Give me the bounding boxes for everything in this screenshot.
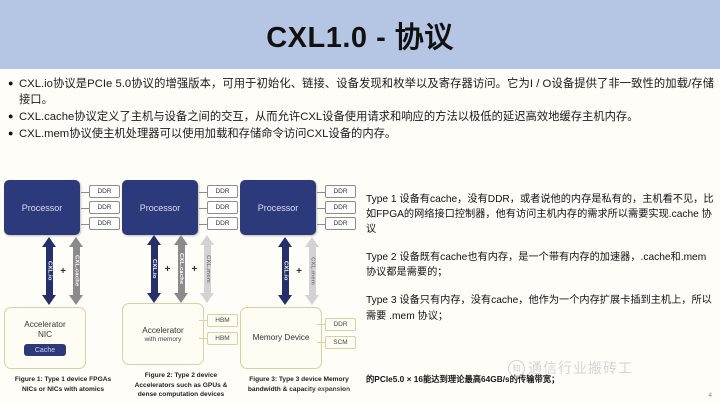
protocol-arrow-cxl-io-icon: CXL.io — [42, 237, 57, 305]
bullet-marker-icon: ● — [8, 109, 19, 123]
note-paragraph-type3: Type 3 设备只有内存，没有cache，他作为一个内存扩展卡插到主机上，所以… — [366, 293, 714, 323]
device-subtitle: NIC — [38, 330, 52, 340]
ddr-chip: DDR — [89, 185, 120, 198]
processor-block: Processor — [4, 180, 80, 235]
protocol-arrow-cxl-mem-icon: CXL.mem — [305, 237, 320, 305]
arrow-label: CXL.io — [47, 261, 53, 281]
arrow-label: CXL.io — [151, 259, 157, 279]
note-paragraph-type2: Type 2 设备既有cache也有内存，是一个带有内存的加速器，.cache和… — [366, 250, 714, 280]
processor-row: Processor DDR DDR DDR — [122, 180, 240, 235]
protocol-arrows: CXL.io + CXL.cache — [4, 235, 122, 307]
list-item: ● CXL.mem协议使主机处理器可以使用加载和存储命令访问CXL设备的内存。 — [8, 126, 714, 142]
processor-block: Processor — [122, 180, 198, 235]
ddr-stack: DDR DDR DDR — [316, 180, 358, 235]
protocol-arrow-cxl-cache-icon: CXL.cache — [69, 237, 84, 305]
page-title: CXL1.0 - 协议 — [266, 14, 454, 56]
explanation-notes: Type 1 设备有cache，没有DDR，或者说他的内存是私有的，主机看不见，… — [366, 192, 714, 337]
plus-sign: + — [295, 266, 303, 277]
ddr-chip: DDR — [325, 217, 356, 230]
plus-sign: + — [164, 264, 172, 275]
memory-chip: HBM — [207, 332, 238, 345]
ddr-chip: DDR — [89, 217, 120, 230]
protocol-arrows: CXL.io + CXL.cache + CXL.mem — [122, 235, 240, 303]
list-item: ● CXL.cache协议定义了主机与设备之间的交互，从而允许CXL设备使用请求… — [8, 109, 714, 125]
arrow-head-down-icon — [278, 295, 292, 305]
arrow-head-down-icon — [147, 293, 161, 303]
bullet-text: CXL.mem协议使主机处理器可以使用加载和存储命令访问CXL设备的内存。 — [19, 126, 714, 142]
protocol-arrows: CXL.io + CXL.mem — [240, 235, 358, 307]
arrow-head-down-icon — [200, 293, 214, 303]
protocol-arrow-cxl-mem-icon: CXL.mem — [200, 235, 215, 303]
arrow-head-down-icon — [69, 295, 83, 305]
memory-chip: HBM — [207, 314, 238, 327]
protocol-arrow-cxl-io-icon: CXL.io — [147, 235, 162, 303]
ddr-chip: DDR — [89, 201, 120, 214]
memory-chip: SCM — [325, 336, 356, 349]
memory-chip: DDR — [325, 318, 356, 331]
processor-row: Processor DDR DDR DDR — [4, 180, 122, 235]
device-row: Memory Device DDR SCM — [240, 307, 358, 369]
device-memory-stack: HBM HBM — [204, 303, 240, 355]
plus-sign: + — [191, 264, 199, 275]
device-row: Accelerator NIC Cache — [4, 307, 122, 369]
cxl-device-type-diagram: Processor DDR DDR DDR CXL.io + CXL.cache — [4, 180, 360, 400]
figure-type-1: Processor DDR DDR DDR CXL.io + CXL.cache — [4, 180, 122, 400]
figure-type-2: Processor DDR DDR DDR CXL.io + CXL.cache… — [122, 180, 240, 400]
device-memory-stack: DDR SCM — [322, 307, 358, 359]
arrow-label: CXL.mem — [309, 257, 315, 285]
device-memory-stack — [86, 307, 122, 359]
arrow-head-down-icon — [42, 295, 56, 305]
ddr-stack: DDR DDR DDR — [198, 180, 240, 235]
arrow-head-down-icon — [174, 293, 188, 303]
ddr-stack: DDR DDR DDR — [80, 180, 122, 235]
figure-caption: Figure 2: Type 2 device Accelerators suc… — [125, 371, 237, 400]
device-block: Memory Device — [240, 307, 322, 369]
slide-header-banner: CXL1.0 - 协议 — [0, 0, 720, 69]
figure-type-3: Processor DDR DDR DDR CXL.io + CXL.mem — [240, 180, 358, 400]
page-number: 4 — [708, 392, 712, 399]
device-block: Accelerator with memory — [122, 303, 204, 365]
arrow-label: CXL.io — [283, 261, 289, 281]
note-footnote-bandwidth: 的PCIe5.0 × 16能达到理论最高64GB/s的传输带宽； — [366, 374, 666, 385]
arrow-head-down-icon — [305, 295, 319, 305]
device-block: Accelerator NIC Cache — [4, 307, 86, 369]
device-cache-badge: Cache — [24, 344, 66, 356]
bullet-text: CXL.io协议是PCIe 5.0协议的增强版本，可用于初始化、链接、设备发现和… — [19, 76, 714, 108]
device-subtitle: with memory — [145, 336, 182, 343]
arrow-label: CXL.mem — [205, 255, 211, 283]
figure-credit: ©2019 Rambus, Inc. — [306, 387, 353, 392]
figure-caption: Figure 1: Type 1 device FPGAs NICs or NI… — [7, 375, 119, 394]
note-paragraph-type1: Type 1 设备有cache，没有DDR，或者说他的内存是私有的，主机看不见，… — [366, 192, 714, 237]
ddr-chip: DDR — [207, 185, 238, 198]
ddr-chip: DDR — [207, 201, 238, 214]
device-title: Accelerator — [24, 320, 65, 330]
bullet-list: ● CXL.io协议是PCIe 5.0协议的增强版本，可用于初始化、链接、设备发… — [8, 76, 714, 143]
ddr-chip: DDR — [325, 201, 356, 214]
plus-sign: + — [59, 266, 67, 277]
device-title: Accelerator — [142, 326, 183, 336]
processor-block: Processor — [240, 180, 316, 235]
bullet-marker-icon: ● — [8, 126, 19, 140]
bullet-text: CXL.cache协议定义了主机与设备之间的交互，从而允许CXL设备使用请求和响… — [19, 109, 714, 125]
ddr-chip: DDR — [325, 185, 356, 198]
ddr-chip: DDR — [207, 217, 238, 230]
processor-row: Processor DDR DDR DDR — [240, 180, 358, 235]
device-title: Memory Device — [253, 333, 310, 343]
protocol-arrow-cxl-cache-icon: CXL.cache — [174, 235, 189, 303]
list-item: ● CXL.io协议是PCIe 5.0协议的增强版本，可用于初始化、链接、设备发… — [8, 76, 714, 108]
arrow-label: CXL.cache — [73, 255, 79, 286]
protocol-arrow-cxl-io-icon: CXL.io — [278, 237, 293, 305]
bullet-marker-icon: ● — [8, 76, 19, 90]
arrow-label: CXL.cache — [178, 253, 184, 284]
device-row: Accelerator with memory HBM HBM — [122, 303, 240, 365]
